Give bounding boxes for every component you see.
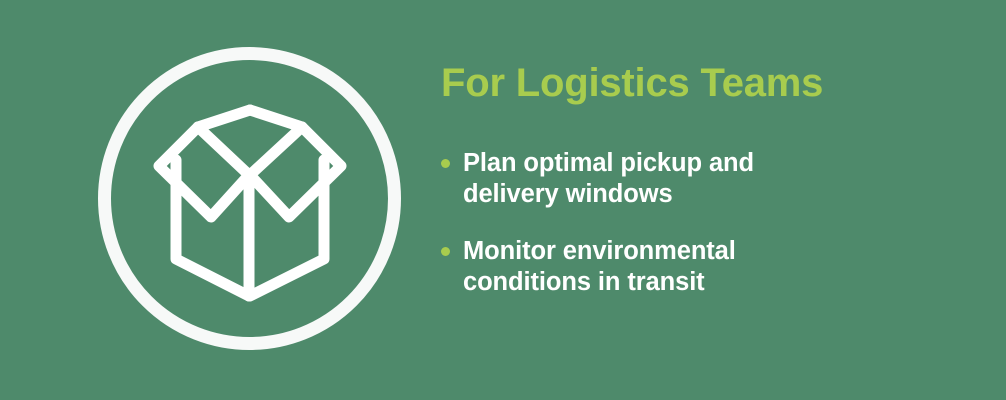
list-item-label: Plan optimal pickup and delivery windows bbox=[463, 149, 754, 208]
page-title: For Logistics Teams bbox=[441, 62, 981, 104]
list-item: Plan optimal pickup and delivery windows bbox=[441, 148, 843, 210]
bullet-dot-icon bbox=[441, 247, 450, 256]
list-item-label: Monitor environmental conditions in tran… bbox=[463, 237, 736, 296]
open-box-icon bbox=[98, 47, 401, 350]
text-content: For Logistics Teams Plan optimal pickup … bbox=[441, 62, 981, 297]
bullet-dot-icon bbox=[441, 159, 450, 168]
feature-list: Plan optimal pickup and delivery windows… bbox=[441, 148, 981, 297]
list-item: Monitor environmental conditions in tran… bbox=[441, 236, 843, 298]
icon-badge bbox=[98, 47, 401, 350]
logistics-teams-card: For Logistics Teams Plan optimal pickup … bbox=[0, 0, 1006, 400]
